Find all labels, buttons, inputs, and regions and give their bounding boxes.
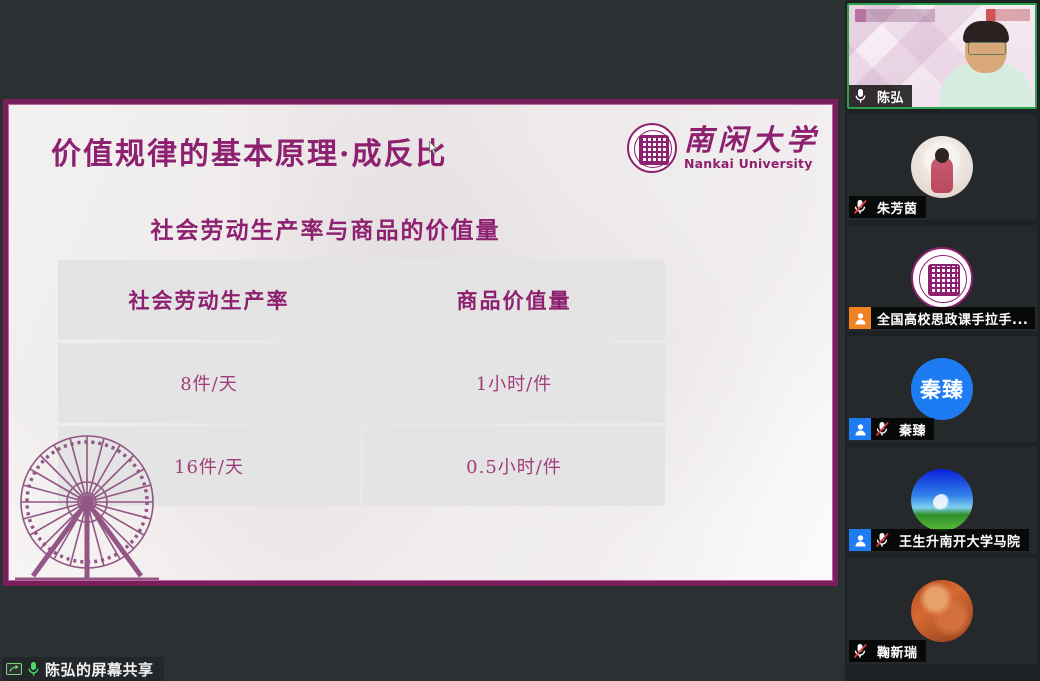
table-header-row: 社会劳动生产率 商品价值量 xyxy=(58,260,665,340)
virtual-bg-right-logo xyxy=(986,9,1030,21)
participant-tile[interactable]: 秦臻 秦臻 xyxy=(847,336,1037,442)
mic-unmuted-green-icon xyxy=(27,661,40,677)
table-cell: 1小时/件 xyxy=(363,343,665,423)
participant-avatar xyxy=(911,247,973,309)
participant-nametag: 王生升南开大学马院 xyxy=(849,529,1029,551)
participant-nametag: 全国高校思政课手拉手... xyxy=(849,307,1036,329)
participant-avatar: 秦臻 xyxy=(911,358,973,420)
participant-nametag: 秦臻 xyxy=(849,418,934,440)
logo-english-name: Nankai University xyxy=(684,158,820,171)
participant-avatar xyxy=(911,469,973,531)
participant-nametag: 陈弘 xyxy=(849,85,912,107)
ferris-wheel-icon xyxy=(8,424,171,581)
slide-subtitle: 社会劳动生产率与商品的价值量 xyxy=(9,211,832,245)
participant-name: 朱芳茵 xyxy=(871,198,918,217)
avatar-initials: 秦臻 xyxy=(920,374,964,404)
participant-tile[interactable]: 全国高校思政课手拉手... xyxy=(847,225,1037,331)
logo-chinese-name: 南闲大学 xyxy=(684,126,820,155)
mic-muted-icon xyxy=(871,529,893,551)
participant-tile[interactable]: 鞠新瑞 xyxy=(847,558,1037,664)
person-badge-icon xyxy=(849,307,871,329)
participant-avatar xyxy=(911,580,973,642)
person-badge-icon xyxy=(849,529,871,551)
slide-title: 价值规律的基本原理·成反比 xyxy=(51,129,447,173)
mic-muted-icon xyxy=(871,418,893,440)
shared-screen-area: 价值规律的基本原理·成反比 南闲大学 Nankai University 社会劳… xyxy=(0,0,845,681)
screen-share-icon xyxy=(6,663,22,675)
participant-tile[interactable]: 陈弘 xyxy=(847,3,1037,109)
participant-nametag: 朱芳茵 xyxy=(849,196,926,218)
presentation-slide: 价值规律的基本原理·成反比 南闲大学 Nankai University 社会劳… xyxy=(3,99,838,586)
table-row: 8件/天 1小时/件 xyxy=(58,343,665,423)
participant-tile[interactable]: 王生升南开大学马院 xyxy=(847,447,1037,553)
participant-nametag: 鞠新瑞 xyxy=(849,640,926,662)
mouse-pointer-icon xyxy=(429,141,438,155)
share-bar-label: 陈弘的屏幕共享 xyxy=(45,659,154,680)
participant-avatar xyxy=(911,136,973,198)
table-header-cell: 商品价值量 xyxy=(363,260,665,340)
speaker-figure xyxy=(940,29,1032,107)
person-badge-icon xyxy=(849,418,871,440)
table-header-cell: 社会劳动生产率 xyxy=(58,260,360,340)
participant-filmstrip[interactable]: 陈弘 朱芳茵 全 xyxy=(845,0,1040,681)
table-cell: 0.5小时/件 xyxy=(363,426,665,506)
participant-name: 鞠新瑞 xyxy=(871,642,918,661)
virtual-bg-left-logo xyxy=(855,9,935,22)
participant-name: 王生升南开大学马院 xyxy=(893,531,1021,550)
participant-name: 全国高校思政课手拉手... xyxy=(871,309,1028,328)
mic-icon xyxy=(849,85,871,107)
mic-muted-icon xyxy=(849,640,871,662)
table-cell: 8件/天 xyxy=(58,343,360,423)
nankai-university-logo: 南闲大学 Nankai University xyxy=(627,123,820,173)
participant-name: 秦臻 xyxy=(893,420,926,439)
mic-muted-icon xyxy=(849,196,871,218)
screen-share-status-bar: 陈弘的屏幕共享 xyxy=(2,657,164,681)
participant-tile[interactable]: 朱芳茵 xyxy=(847,114,1037,220)
participant-name: 陈弘 xyxy=(871,87,904,106)
nankai-university-seal-icon xyxy=(627,123,677,173)
